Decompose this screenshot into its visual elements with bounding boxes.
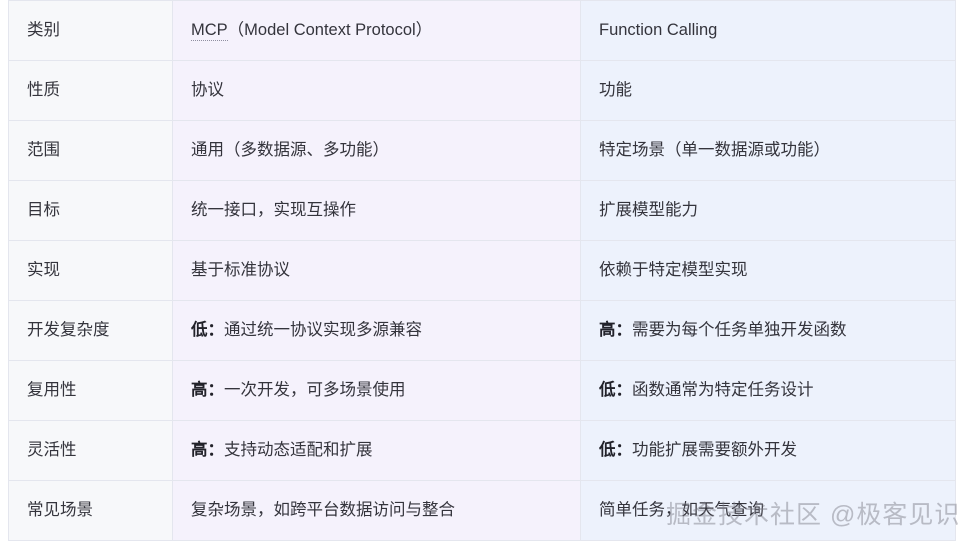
mcp-vs-function-calling-table: 类别 MCP（Model Context Protocol） Function … [8, 0, 956, 541]
cell-text: 功能扩展需要额外开发 [632, 441, 797, 459]
cell-lead: 高： [191, 381, 224, 399]
cell-text: 扩展模型能力 [599, 201, 698, 219]
cell-text: 复杂场景，如跨平台数据访问与整合 [191, 501, 455, 519]
cell-text: 一次开发，可多场景使用 [224, 381, 406, 399]
table-body: 性质 协议 功能 范围 通用（多数据源、多功能） 特定场景（单一数据源或功能） … [9, 61, 956, 541]
table-row: 开发复杂度 低：通过统一协议实现多源兼容 高：需要为每个任务单独开发函数 [9, 301, 956, 361]
column-header-function-calling: Function Calling [581, 1, 956, 61]
table-row: 灵活性 高：支持动态适配和扩展 低：功能扩展需要额外开发 [9, 421, 956, 481]
cell-text: 基于标准协议 [191, 261, 290, 279]
cell-mcp: 统一接口，实现互操作 [173, 181, 581, 241]
cell-mcp: 基于标准协议 [173, 241, 581, 301]
cell-text: 统一接口，实现互操作 [191, 201, 356, 219]
table-row: 复用性 高：一次开发，可多场景使用 低：函数通常为特定任务设计 [9, 361, 956, 421]
cell-mcp: 高：一次开发，可多场景使用 [173, 361, 581, 421]
cell-lead: 高： [191, 441, 224, 459]
cell-text: 需要为每个任务单独开发函数 [632, 321, 847, 339]
table-row: 常见场景 复杂场景，如跨平台数据访问与整合 简单任务，如天气查询 [9, 481, 956, 541]
cell-text: 功能 [599, 81, 632, 99]
cell-text: 通用（多数据源、多功能） [191, 141, 389, 159]
cell-mcp: 协议 [173, 61, 581, 121]
cell-function-calling: 高：需要为每个任务单独开发函数 [581, 301, 956, 361]
cell-text: 函数通常为特定任务设计 [632, 381, 814, 399]
cell-mcp: 复杂场景，如跨平台数据访问与整合 [173, 481, 581, 541]
cell-text: 协议 [191, 81, 224, 99]
cell-function-calling: 依赖于特定模型实现 [581, 241, 956, 301]
cell-lead: 低： [191, 321, 224, 339]
cell-lead: 低： [599, 381, 632, 399]
row-label: 实现 [9, 241, 173, 301]
table-row: 范围 通用（多数据源、多功能） 特定场景（单一数据源或功能） [9, 121, 956, 181]
row-label: 开发复杂度 [9, 301, 173, 361]
row-label: 性质 [9, 61, 173, 121]
cell-mcp: 高：支持动态适配和扩展 [173, 421, 581, 481]
row-label: 目标 [9, 181, 173, 241]
cell-function-calling: 简单任务，如天气查询 [581, 481, 956, 541]
cell-lead: 低： [599, 441, 632, 459]
cell-function-calling: 功能 [581, 61, 956, 121]
row-label: 范围 [9, 121, 173, 181]
cell-function-calling: 低：函数通常为特定任务设计 [581, 361, 956, 421]
cell-lead: 高： [599, 321, 632, 339]
table-header: 类别 MCP（Model Context Protocol） Function … [9, 1, 956, 61]
mcp-term: MCP [191, 21, 228, 41]
cell-text: 通过统一协议实现多源兼容 [224, 321, 422, 339]
table-row: 目标 统一接口，实现互操作 扩展模型能力 [9, 181, 956, 241]
table-header-row: 类别 MCP（Model Context Protocol） Function … [9, 1, 956, 61]
cell-function-calling: 扩展模型能力 [581, 181, 956, 241]
comparison-table-page: 类别 MCP（Model Context Protocol） Function … [0, 0, 964, 552]
cell-function-calling: 特定场景（单一数据源或功能） [581, 121, 956, 181]
cell-text: 依赖于特定模型实现 [599, 261, 748, 279]
cell-text: 特定场景（单一数据源或功能） [599, 141, 830, 159]
cell-text: 支持动态适配和扩展 [224, 441, 373, 459]
row-label: 常见场景 [9, 481, 173, 541]
table-row: 实现 基于标准协议 依赖于特定模型实现 [9, 241, 956, 301]
table-row: 性质 协议 功能 [9, 61, 956, 121]
column-header-mcp: MCP（Model Context Protocol） [173, 1, 581, 61]
cell-mcp: 低：通过统一协议实现多源兼容 [173, 301, 581, 361]
row-label: 复用性 [9, 361, 173, 421]
column-header-category: 类别 [9, 1, 173, 61]
cell-mcp: 通用（多数据源、多功能） [173, 121, 581, 181]
row-label: 灵活性 [9, 421, 173, 481]
mcp-term-expansion: （Model Context Protocol） [228, 21, 433, 39]
cell-text: 简单任务，如天气查询 [599, 501, 764, 519]
cell-function-calling: 低：功能扩展需要额外开发 [581, 421, 956, 481]
